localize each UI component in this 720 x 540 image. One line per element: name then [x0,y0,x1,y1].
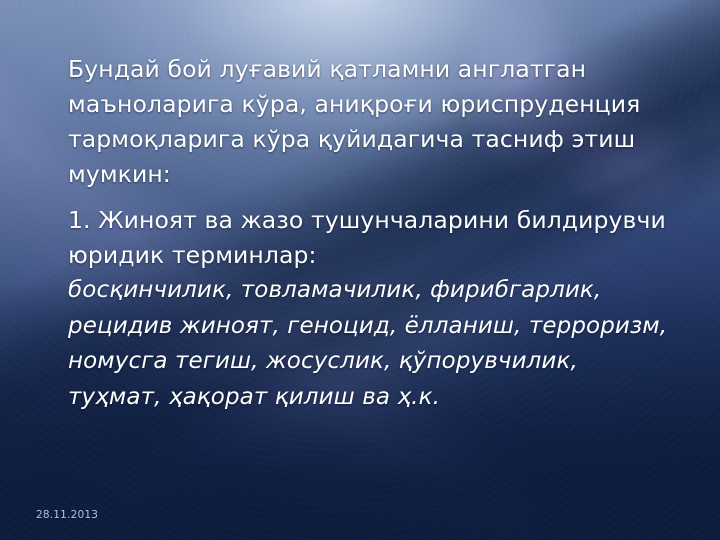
slide-date-stamp: 28.11.2013 [36,509,98,521]
list-item-1-heading: 1. Жиноят ва жазо тушунчаларини билдирув… [68,203,668,273]
intro-paragraph: Бундай бой луғавий қатламни англатган ма… [68,52,668,192]
list-item-1-terms: босқинчилик, товламачилик, фирибгарлик, … [68,273,668,415]
slide-content-body: Бундай бой луғавий қатламни англатган ма… [68,52,668,421]
presentation-slide: Бундай бой луғавий қатламни англатган ма… [0,0,720,540]
